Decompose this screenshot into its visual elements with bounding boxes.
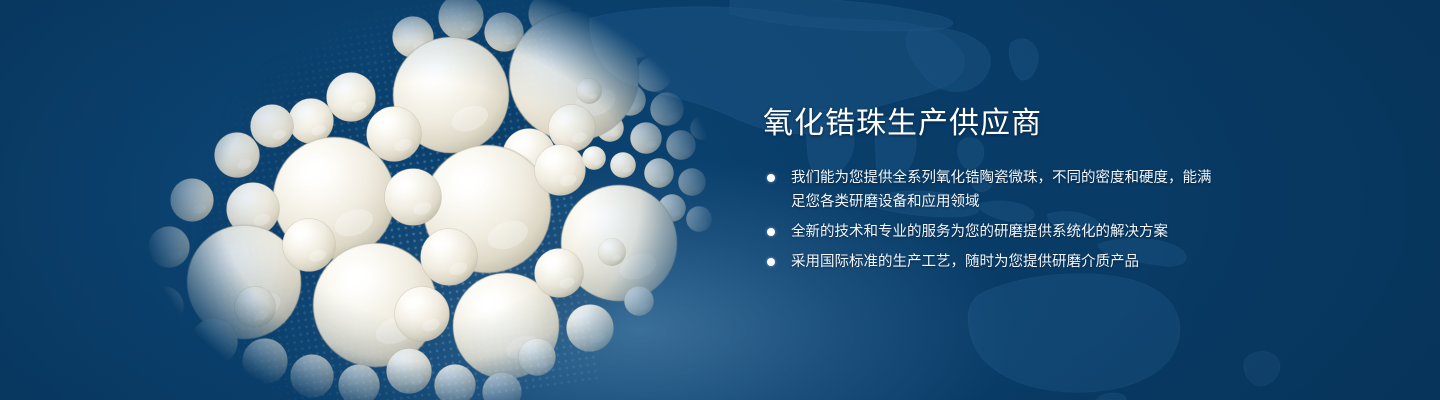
list-item: 全新的技术和专业的服务为您的研磨提供系统化的解决方案 — [763, 220, 1213, 244]
list-item-label: 我们能为您提供全系列氧化锆陶瓷微珠，不同的密度和硬度，能满足您各类研磨设备和应用… — [791, 166, 1213, 214]
hero-banner: 氧化锆珠生产供应商 我们能为您提供全系列氧化锆陶瓷微珠，不同的密度和硬度，能满足… — [0, 0, 1440, 400]
list-item: 我们能为您提供全系列氧化锆陶瓷微珠，不同的密度和硬度，能满足您各类研磨设备和应用… — [763, 166, 1213, 214]
list-item-label: 采用国际标准的生产工艺，随时为您提供研磨介质产品 — [791, 250, 1213, 274]
dot-bullet-icon — [767, 228, 775, 236]
zirconia-beads-image — [130, 0, 730, 400]
dot-bullet-icon — [767, 258, 775, 266]
banner-copy: 氧化锆珠生产供应商 我们能为您提供全系列氧化锆陶瓷微珠，不同的密度和硬度，能满足… — [763, 104, 1213, 280]
dot-bullet-icon — [767, 174, 775, 182]
list-item-label: 全新的技术和专业的服务为您的研磨提供系统化的解决方案 — [791, 220, 1213, 244]
page-title: 氧化锆珠生产供应商 — [763, 104, 1213, 144]
feature-list: 我们能为您提供全系列氧化锆陶瓷微珠，不同的密度和硬度，能满足您各类研磨设备和应用… — [763, 166, 1213, 274]
list-item: 采用国际标准的生产工艺，随时为您提供研磨介质产品 — [763, 250, 1213, 274]
